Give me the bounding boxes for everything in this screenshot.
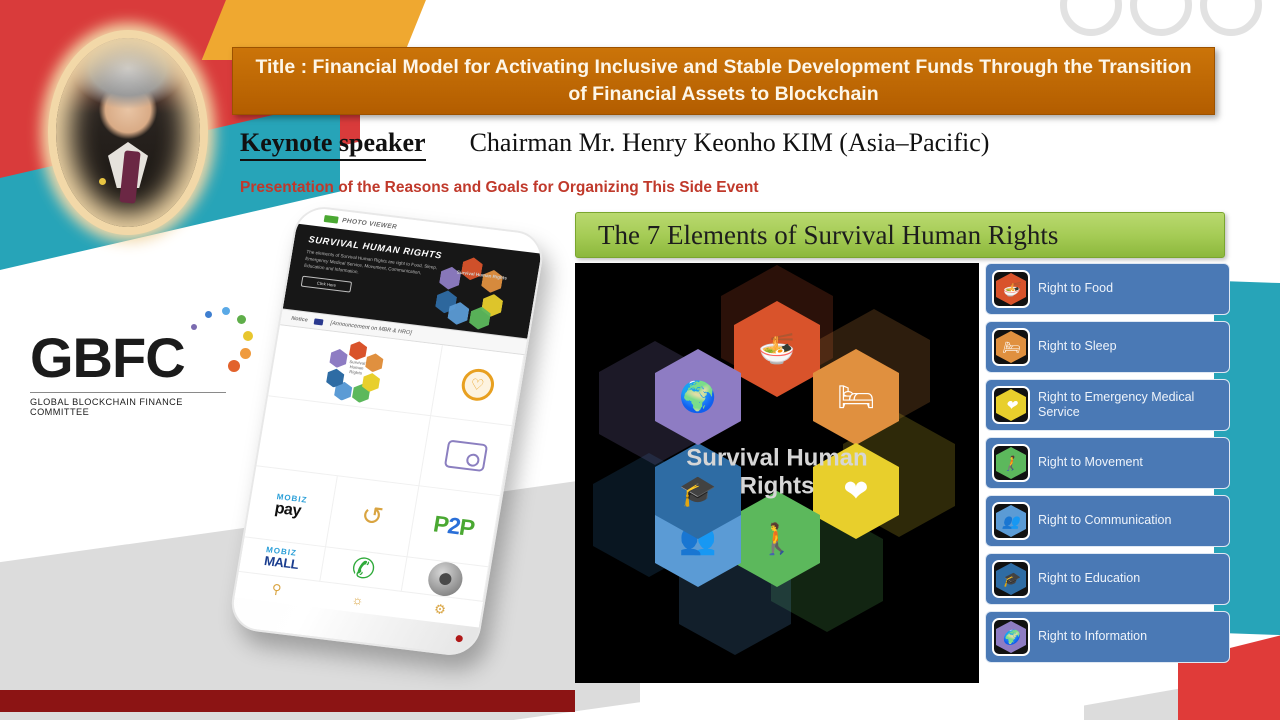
phone-status-label: PHOTO VIEWER bbox=[342, 217, 398, 231]
heart-pulse-icon: ❤ bbox=[996, 389, 1026, 421]
hex-cluster-label: Survival Human Rights bbox=[343, 360, 369, 377]
food-icon: 🍜 bbox=[758, 332, 795, 367]
p2p-label: P2P bbox=[431, 511, 476, 543]
right-item[interactable]: 🌍Right to Information bbox=[985, 611, 1230, 663]
logo-dot bbox=[222, 307, 230, 315]
right-item-label: Right to Communication bbox=[1038, 513, 1171, 528]
walking-icon: 🚶 bbox=[996, 447, 1026, 479]
right-item[interactable]: 👥Right to Communication bbox=[985, 495, 1230, 547]
hex-diagram: Survival Human Rights 🍜🛏❤🚶👥🎓🌍 bbox=[575, 263, 979, 683]
portrait-lapel-pin bbox=[99, 178, 106, 185]
panel-body: Survival Human Rights 🍜🛏❤🚶👥🎓🌍 🍜Right to … bbox=[575, 263, 1230, 683]
right-item[interactable]: 🛏Right to Sleep bbox=[985, 321, 1230, 373]
app-p2p[interactable]: P2P bbox=[407, 487, 500, 568]
app-coin[interactable]: ♡ bbox=[431, 345, 524, 426]
hierarchy-icon-box: 🎓 bbox=[992, 560, 1030, 598]
people-icon: 👥 bbox=[996, 505, 1026, 537]
logo-dots bbox=[185, 302, 255, 372]
rights-list: 🍜Right to Food🛏Right to Sleep❤Right to E… bbox=[985, 263, 1230, 683]
portrait-frame bbox=[48, 30, 208, 235]
bowl-icon: 🍜 bbox=[996, 273, 1026, 305]
dial-icon bbox=[425, 560, 464, 598]
keynote-label: Keynote speaker bbox=[240, 128, 426, 161]
people-icon-box: 👥 bbox=[992, 502, 1030, 540]
globe-info-icon: 🌍 bbox=[996, 621, 1026, 653]
slide-canvas: GBFC GLOBAL BLOCKCHAIN FINANCE COMMITTEE… bbox=[0, 0, 1280, 720]
sleep-icon: 🛏 bbox=[837, 380, 875, 415]
logo-divider bbox=[30, 392, 226, 393]
camera-dot-icon bbox=[455, 635, 463, 643]
bowl-icon-box: 🍜 bbox=[992, 270, 1030, 308]
flag-icon bbox=[314, 318, 324, 325]
walking-icon-box: 🚶 bbox=[992, 444, 1030, 482]
bed-icon: 🛏 bbox=[996, 331, 1026, 363]
app-exchange[interactable]: ↺ bbox=[326, 477, 419, 558]
logo-dot bbox=[240, 348, 251, 359]
logo-tagline: GLOBAL BLOCKCHAIN FINANCE COMMITTEE bbox=[30, 397, 230, 417]
mobiz-mall-label: MOBIZ MALL bbox=[263, 547, 300, 572]
wallet-icon bbox=[443, 439, 487, 471]
portrait-photo bbox=[56, 38, 200, 227]
app-mobiz-pay[interactable]: MOBIZ pay bbox=[245, 467, 338, 548]
ring-icon bbox=[1200, 0, 1262, 36]
hex-cluster-icon: Survival Human Rights bbox=[317, 335, 393, 404]
logo-dot bbox=[205, 311, 212, 318]
movement-icon: 🚶 bbox=[758, 522, 795, 557]
keynote-row: Keynote speaker Chairman Mr. Henry Keonh… bbox=[240, 128, 989, 161]
logo-dot bbox=[191, 324, 197, 330]
right-item[interactable]: 🎓Right to Education bbox=[985, 553, 1230, 605]
bell-icon[interactable]: ☼ bbox=[351, 591, 365, 607]
right-item[interactable]: ❤Right to Emergency Medical Service bbox=[985, 379, 1230, 431]
right-item-label: Right to Sleep bbox=[1038, 339, 1117, 354]
hero-hex-cluster bbox=[423, 249, 535, 334]
ring-icon bbox=[1060, 0, 1122, 36]
app-wallet[interactable] bbox=[419, 416, 512, 497]
gear-icon[interactable]: ⚙ bbox=[433, 601, 447, 618]
hero-click-here-button[interactable]: Click Here bbox=[301, 275, 352, 292]
logo-dot bbox=[243, 331, 253, 341]
panel-title: The 7 Elements of Survival Human Rights bbox=[598, 220, 1058, 251]
right-item-label: Right to Food bbox=[1038, 281, 1113, 296]
heart-pulse-icon-box: ❤ bbox=[992, 386, 1030, 424]
session-subtitle: Presentation of the Reasons and Goals fo… bbox=[240, 179, 758, 197]
page-title: Title : Financial Model for Activating I… bbox=[249, 54, 1198, 107]
ring-icon bbox=[1130, 0, 1192, 36]
speaker-portrait bbox=[48, 30, 208, 235]
right-item[interactable]: 🚶Right to Movement bbox=[985, 437, 1230, 489]
mobiz-pay-main: pay bbox=[273, 501, 306, 521]
hierarchy-icon: 🎓 bbox=[996, 563, 1026, 595]
mini-hex bbox=[348, 340, 368, 361]
right-item-label: Right to Emergency Medical Service bbox=[1038, 390, 1223, 421]
bed-icon-box: 🛏 bbox=[992, 328, 1030, 366]
exchange-icon: ↺ bbox=[359, 500, 386, 533]
logo-dot bbox=[228, 360, 240, 372]
decor-dark-red-bar bbox=[0, 690, 575, 712]
mobiz-mall-main: MALL bbox=[263, 554, 299, 571]
globe-info-icon-box: 🌍 bbox=[992, 618, 1030, 656]
seven-elements-panel: The 7 Elements of Survival Human Rights … bbox=[575, 212, 1230, 687]
search-icon[interactable]: ⚲ bbox=[270, 581, 282, 598]
notice-label: Notice bbox=[291, 315, 308, 323]
decor-rings bbox=[1060, 0, 1262, 36]
right-item[interactable]: 🍜Right to Food bbox=[985, 263, 1230, 315]
right-item-label: Right to Movement bbox=[1038, 455, 1143, 470]
hex-diagram-center-label: Survival Human Rights bbox=[676, 445, 878, 502]
presentation-title-bar: Title : Financial Model for Activating I… bbox=[232, 47, 1215, 115]
photo-viewer-icon bbox=[324, 215, 339, 224]
phone-app-grid: Survival Human Rights ♡ MOBIZ pay bbox=[239, 325, 525, 602]
information-icon: 🌍 bbox=[679, 380, 716, 415]
logo-dot bbox=[237, 315, 246, 324]
mobiz-pay-label: MOBIZ pay bbox=[273, 493, 308, 520]
keynote-speaker-name: Chairman Mr. Henry Keonho KIM (Asia–Paci… bbox=[470, 128, 990, 158]
coin-icon: ♡ bbox=[459, 367, 496, 402]
right-item-label: Right to Information bbox=[1038, 629, 1147, 644]
phone-icon: ✆ bbox=[349, 551, 378, 586]
right-item-label: Right to Education bbox=[1038, 571, 1140, 586]
panel-header: The 7 Elements of Survival Human Rights bbox=[575, 212, 1225, 258]
gbfc-logo: GBFC GLOBAL BLOCKCHAIN FINANCE COMMITTEE bbox=[30, 330, 230, 417]
